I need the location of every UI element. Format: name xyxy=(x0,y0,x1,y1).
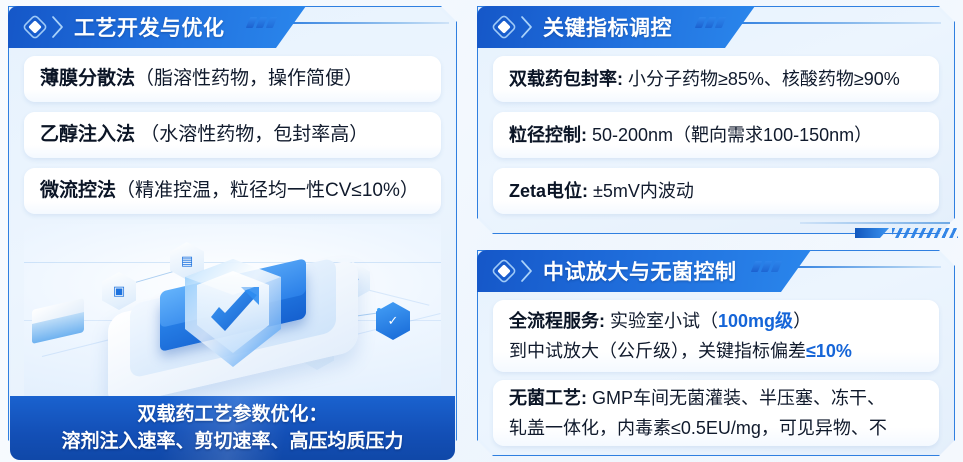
glass-shield-icon xyxy=(177,255,289,383)
card-aseptic-process-text: 无菌工艺: GMP车间无菌灌装、半压塞、冻干、 轧盖一体化，内毒素≤0.5EU/… xyxy=(509,383,923,443)
card-zeta-potential[interactable]: Zeta电位: ±5mV内波动 xyxy=(493,168,939,214)
card-full-process-service-text: 全流程服务: 实验室小试（100mg级） 到中试放大（公斤级），关键指标偏差≤1… xyxy=(509,306,923,366)
decor-arrowbar xyxy=(855,228,889,238)
chevron-right-icon xyxy=(519,14,535,40)
card-zeta-potential-text: Zeta电位: ±5mV内波动 xyxy=(509,177,923,205)
decor-thinline xyxy=(800,222,950,224)
card-encapsulation-rate-text: 双载药包封率: 小分子药物≥85%、核酸药物≥90% xyxy=(509,65,923,93)
decor-tabline-left xyxy=(284,22,449,24)
card-microfluidic-text: 微流控法（精准控温，粒径均一性CV≤10%） xyxy=(40,177,425,205)
decor-tabline-metrics xyxy=(733,22,941,24)
platform-3d xyxy=(108,261,358,379)
diamond-icon xyxy=(491,258,517,284)
decor-hatch-stripes xyxy=(892,228,958,238)
card-ethanol-injection[interactable]: 乙醇注入法 （水溶性药物，包封率高） xyxy=(24,112,441,158)
diamond-icon xyxy=(491,14,517,40)
decor-tabline-pilot xyxy=(789,266,941,268)
process-banner-line2: 溶剂注入速率、剪切速率、高压均质压力 xyxy=(61,428,403,455)
panel-process-development-header[interactable]: 工艺开发与优化 xyxy=(8,6,306,48)
shield-check-3d-illustration: ▤ ▣ ⬟ ✓ ⛁ xyxy=(24,224,441,396)
panel-key-metrics: 关键指标调控 双载药包封率: 小分子药物≥85%、核酸药物≥90% 粒径控制: … xyxy=(477,6,955,234)
panel-process-development: 工艺开发与优化 薄膜分散法（脂溶性药物，操作简便） 乙醇注入法 （水溶性药物，包… xyxy=(8,6,457,456)
process-banner-line1: 双载药工艺参数优化： xyxy=(137,401,327,428)
panel-key-metrics-title: 关键指标调控 xyxy=(543,12,672,42)
panel-key-metrics-header[interactable]: 关键指标调控 xyxy=(477,6,755,48)
panel-pilot-scaleup-title: 中试放大与无菌控制 xyxy=(543,256,737,286)
card-particle-size[interactable]: 粒径控制: 50-200nm（靶向需求100-150nm） xyxy=(493,112,939,158)
card-encapsulation-rate[interactable]: 双载药包封率: 小分子药物≥85%、核酸药物≥90% xyxy=(493,56,939,102)
cube-block-3d xyxy=(32,304,88,342)
process-banner: 双载药工艺参数优化： 溶剂注入速率、剪切速率、高压均质压力 xyxy=(10,396,455,460)
chevron-right-icon xyxy=(50,14,66,40)
card-aseptic-process[interactable]: 无菌工艺: GMP车间无菌灌装、半压塞、冻干、 轧盖一体化，内毒素≤0.5EU/… xyxy=(493,380,939,446)
card-ethanol-injection-text: 乙醇注入法 （水溶性药物，包封率高） xyxy=(40,121,425,149)
card-particle-size-text: 粒径控制: 50-200nm（靶向需求100-150nm） xyxy=(509,121,923,149)
panel-pilot-scaleup: 中试放大与无菌控制 全流程服务: 实验室小试（100mg级） 到中试放大（公斤级… xyxy=(477,250,955,456)
shield-check-icon: ✓ xyxy=(376,302,410,340)
infographic-root: 工艺开发与优化 薄膜分散法（脂溶性药物，操作简便） 乙醇注入法 （水溶性药物，包… xyxy=(0,0,963,462)
card-full-process-service[interactable]: 全流程服务: 实验室小试（100mg级） 到中试放大（公斤级），关键指标偏差≤1… xyxy=(493,300,939,372)
card-microfluidic[interactable]: 微流控法（精准控温，粒径均一性CV≤10%） xyxy=(24,168,441,214)
panel-process-development-title: 工艺开发与优化 xyxy=(74,12,225,42)
card-film-dispersion-text: 薄膜分散法（脂溶性药物，操作简便） xyxy=(40,65,425,93)
diamond-icon xyxy=(22,14,48,40)
panel-pilot-scaleup-header[interactable]: 中试放大与无菌控制 xyxy=(477,250,811,292)
chevron-right-icon xyxy=(519,258,535,284)
card-film-dispersion[interactable]: 薄膜分散法（脂溶性药物，操作简便） xyxy=(24,56,441,102)
